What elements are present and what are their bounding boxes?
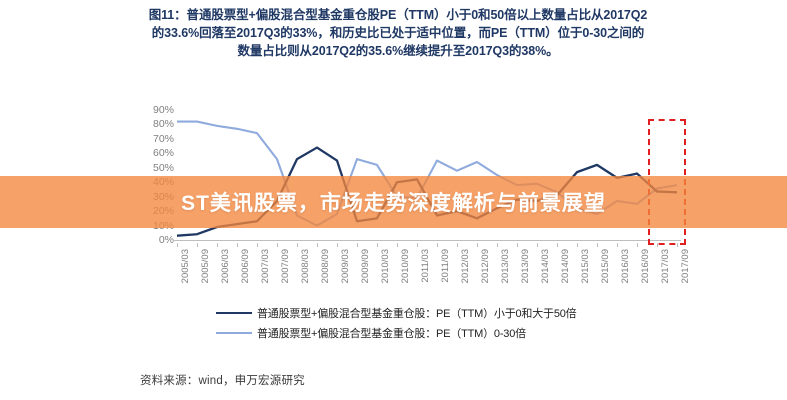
- x-tick-label: 2007/09: [281, 249, 291, 283]
- x-tick: [397, 243, 398, 247]
- x-tick: [497, 243, 498, 247]
- plot-area: [177, 110, 677, 240]
- x-tick-label: 2014/03: [541, 249, 551, 283]
- chart-page: 图11：普通股票型+偏股混合型基金重仓股PE（TTM）小于0和50倍以上数量占比…: [0, 0, 787, 400]
- x-tick-label: 2008/03: [301, 249, 311, 283]
- x-tick-label: 2013/09: [521, 249, 531, 283]
- x-tick-label: 2011/09: [441, 249, 451, 283]
- legend-item-light: 普通股票型+偏股混合型基金重仓股：PE（TTM）0-30倍: [216, 323, 636, 343]
- x-tick-label: 2009/03: [341, 249, 351, 283]
- x-tick-label: 2013/03: [501, 249, 511, 283]
- x-tick-label: 2010/03: [381, 249, 391, 283]
- x-tick-label: 2012/03: [461, 249, 471, 283]
- x-tick: [417, 243, 418, 247]
- x-tick-label: 2005/09: [201, 249, 211, 283]
- x-tick-label: 2016/03: [621, 249, 631, 283]
- x-tick: [557, 243, 558, 247]
- legend-label-light: 普通股票型+偏股混合型基金重仓股：PE（TTM）0-30倍: [257, 325, 526, 341]
- x-tick: [597, 243, 598, 247]
- x-tick: [637, 243, 638, 247]
- x-tick: [357, 243, 358, 247]
- x-tick-label: 2010/09: [401, 249, 411, 283]
- x-tick: [677, 243, 678, 247]
- x-tick-label: 2008/09: [321, 249, 331, 283]
- x-tick: [217, 243, 218, 247]
- x-tick: [577, 243, 578, 247]
- line-chart-svg: [177, 110, 677, 240]
- x-tick: [297, 243, 298, 247]
- x-tick: [177, 243, 178, 247]
- x-tick-label: 2007/03: [261, 249, 271, 283]
- x-tick: [237, 243, 238, 247]
- series-line-pe-under0-over50: [177, 148, 677, 236]
- x-tick-label: 2015/03: [581, 249, 591, 283]
- x-tick: [477, 243, 478, 247]
- x-tick: [197, 243, 198, 247]
- x-axis-labels: 2005/032005/092006/032006/092007/032007/…: [0, 243, 787, 303]
- x-tick: [517, 243, 518, 247]
- legend-swatch-dark: [216, 312, 252, 314]
- x-tick-label: 2011/03: [421, 249, 431, 283]
- legend-item-dark: 普通股票型+偏股混合型基金重仓股：PE（TTM）小于0和大于50倍: [216, 303, 636, 323]
- x-tick: [617, 243, 618, 247]
- x-tick-label: 2012/09: [481, 249, 491, 283]
- x-tick: [457, 243, 458, 247]
- x-tick-label: 2016/09: [641, 249, 651, 283]
- x-tick-label: 2006/03: [221, 249, 231, 283]
- series-line-pe-0-30: [177, 122, 677, 226]
- x-tick-label: 2015/09: [601, 249, 611, 283]
- source-note: 资料来源：wind，申万宏源研究: [140, 372, 305, 388]
- x-axis-line: [173, 240, 681, 241]
- legend-label-dark: 普通股票型+偏股混合型基金重仓股：PE（TTM）小于0和大于50倍: [257, 305, 576, 321]
- x-tick: [657, 243, 658, 247]
- chart-legend: 普通股票型+偏股混合型基金重仓股：PE（TTM）小于0和大于50倍 普通股票型+…: [216, 303, 636, 343]
- x-tick-label: 2005/03: [181, 249, 191, 283]
- x-tick: [537, 243, 538, 247]
- legend-swatch-light: [216, 332, 252, 334]
- x-tick: [317, 243, 318, 247]
- x-tick: [277, 243, 278, 247]
- x-tick: [257, 243, 258, 247]
- x-tick: [337, 243, 338, 247]
- x-tick-label: 2009/09: [361, 249, 371, 283]
- x-tick-label: 2017/09: [681, 249, 691, 283]
- x-tick-label: 2006/09: [241, 249, 251, 283]
- x-tick-label: 2017/03: [661, 249, 671, 283]
- x-tick: [377, 243, 378, 247]
- x-tick-label: 2014/09: [561, 249, 571, 283]
- x-tick: [437, 243, 438, 247]
